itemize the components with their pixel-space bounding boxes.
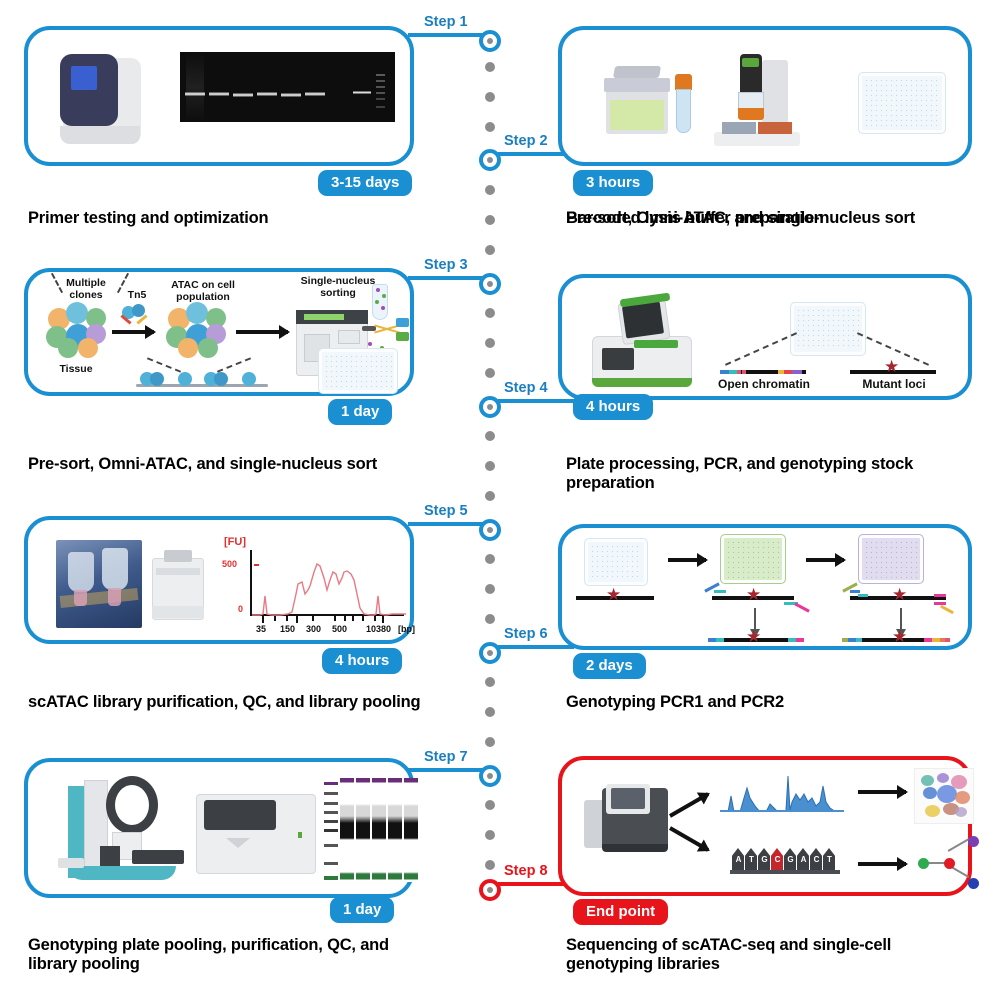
step-label-7: Step 7	[424, 749, 468, 765]
zoom-leader-icon	[147, 357, 181, 372]
panel-step-4[interactable]: Open chromatin ★ Mutant loci	[558, 274, 972, 400]
timeline-dot	[485, 368, 495, 378]
tn5-icon	[242, 372, 256, 386]
heat-block-arm-icon	[613, 66, 661, 78]
cell-icon	[78, 338, 98, 358]
label-multiple-clones: Multiple clones	[50, 278, 122, 301]
tn5-icon	[178, 372, 192, 386]
step-label-3: Step 3	[424, 257, 468, 273]
chart-xtick	[296, 616, 298, 623]
timeline-dot	[485, 707, 495, 717]
plate-384-icon	[584, 538, 648, 586]
thermocycler-lid-window-icon	[622, 302, 664, 339]
atac-signal-track	[722, 772, 842, 812]
heat-block-lid-icon	[604, 78, 670, 92]
step-label-5: Step 5	[424, 503, 468, 519]
timeline-dot	[485, 461, 495, 471]
barcode-seg-icon	[788, 638, 796, 642]
thermocycler-screen-icon	[602, 348, 634, 370]
cell-icon	[198, 338, 218, 358]
umap-plot	[914, 768, 974, 824]
chart-xtick-label: 300	[306, 624, 321, 634]
label-atac-population: ATAC on cell population	[162, 280, 244, 303]
barcode-seg-icon	[708, 638, 716, 642]
duration-badge-step-4: 4 hours	[573, 394, 653, 420]
base-letter-mutant: C	[773, 855, 782, 864]
timeline-track	[482, 18, 498, 978]
genotype-bases: A T G C G A C T	[730, 846, 840, 880]
base-letter: G	[786, 855, 795, 864]
plate-384-icon	[790, 302, 866, 356]
timeline-dot	[485, 614, 495, 624]
robot-keyboard-icon	[58, 858, 84, 868]
base-letter: A	[734, 855, 743, 864]
thermocycler-base-icon	[592, 378, 692, 387]
sequencer-screen-icon	[611, 788, 645, 809]
panel-step-6[interactable]: ★ ★ ★ ★ ★	[558, 524, 972, 650]
step-label-6: Step 6	[504, 626, 548, 642]
tapestation-led-icon	[298, 832, 302, 838]
instrument-screen-icon	[71, 66, 97, 90]
qc-instrument-base-icon	[152, 606, 204, 618]
step-label-4: Step 4	[504, 380, 548, 396]
step-label-8: Step 8	[504, 863, 548, 879]
chart-xtick	[382, 616, 384, 623]
label-open-chromatin: Open chromatin	[714, 378, 814, 391]
robot-base-icon	[68, 866, 176, 880]
qc-instrument-lid-icon	[164, 550, 192, 562]
clone-node-icon	[918, 858, 929, 869]
step-arm-1	[408, 33, 484, 37]
caption-step-1: Primer testing and optimization	[28, 209, 428, 228]
chart-xtick	[362, 616, 364, 621]
droplet-icon	[376, 288, 380, 292]
zoom-leader-icon	[217, 357, 251, 372]
pcr2-primer-icon	[858, 594, 868, 597]
flow-arrow	[668, 558, 706, 562]
timeline-dot	[485, 554, 495, 564]
caption-step-3: Pre-sort, Omni-ATAC, and single-nucleus …	[28, 455, 428, 474]
droplet-icon	[375, 300, 379, 304]
caption-step-7: Genotyping plate pooling, purification, …	[28, 936, 428, 974]
timeline-dot	[485, 92, 495, 102]
chart-ytick-500: 500	[222, 559, 237, 569]
panel-step-2[interactable]	[558, 26, 972, 166]
step-arm-3	[408, 276, 484, 280]
caption-step-4: Plate processing, PCR, and genotyping st…	[566, 455, 966, 493]
clone-phylogeny	[912, 834, 982, 890]
sort-bin-icon	[396, 332, 409, 341]
timeline-dot	[485, 185, 495, 195]
timeline-dot	[485, 431, 495, 441]
timeline-dot	[485, 215, 495, 225]
workflow-diagram: Step 1 Step 2 Step 3 Step 4 Step 5 Step …	[0, 0, 996, 996]
caption-step-5: scATAC library purification, QC, and lib…	[28, 693, 428, 712]
dispenser-display-icon	[742, 58, 759, 67]
barcode-seg-icon	[856, 638, 862, 642]
timeline-dot	[485, 491, 495, 501]
chart-xlabel: [bp]	[398, 624, 415, 634]
pcr2-primer-icon	[850, 590, 860, 593]
duration-badge-step-7: 1 day	[330, 897, 394, 923]
branch-arrow-up	[669, 792, 709, 817]
clone-node-icon	[968, 878, 979, 889]
step-arm-6	[498, 645, 574, 649]
base-letter: T	[747, 855, 756, 864]
caption-step-6: Genotyping PCR1 and PCR2	[566, 693, 966, 712]
tip-box-tips-icon	[738, 108, 764, 120]
duration-badge-step-5: 4 hours	[322, 648, 402, 674]
panel-step-8[interactable]: A T G C G A C T	[558, 756, 972, 896]
tube-cap-icon	[675, 74, 692, 90]
sequencer-base-icon	[602, 844, 668, 852]
caption-step-2: Barcoded lysis buffer preparation	[566, 209, 966, 228]
barcode-seg-icon	[729, 370, 737, 374]
mutation-star-icon: ★	[746, 628, 761, 645]
caption-step-8: Sequencing of scATAC-seq and single-cell…	[566, 936, 966, 974]
heat-block-front-icon	[610, 100, 664, 130]
timeline-dot	[485, 677, 495, 687]
step-arm-4	[498, 399, 574, 403]
step-label-2: Step 2	[504, 133, 548, 149]
flow-arrow	[236, 330, 288, 334]
pcr2-primer-icon	[934, 602, 946, 605]
tn5-icon	[150, 372, 164, 386]
end-point-badge: End point	[573, 899, 668, 925]
tn5-icon	[214, 372, 228, 386]
barcode-seg-icon	[742, 370, 746, 374]
chart-ylabel: [FU]	[224, 536, 246, 548]
mutation-star-icon: ★	[892, 586, 907, 603]
instrument-base-icon	[60, 126, 140, 144]
electropherogram-chart: [FU] 500 0 35 150 300 500 10380	[216, 532, 412, 636]
clone-node-icon	[944, 858, 955, 869]
pcr2-primer-icon	[934, 594, 946, 597]
chart-xtick	[262, 616, 264, 623]
label-tissue: Tissue	[44, 364, 108, 376]
dispenser-base-icon	[714, 132, 800, 146]
sort-gate-icon	[362, 326, 376, 331]
panel-step-3[interactable]: Multiple clones Tissue Tn5 ATAC on cell …	[24, 268, 414, 396]
gel-image	[180, 52, 395, 122]
robot-gripper-icon	[100, 846, 120, 868]
timeline-dot	[485, 737, 495, 747]
panel-step-5[interactable]: [FU] 500 0 35 150 300 500 10380	[24, 516, 414, 644]
timeline-dot	[485, 584, 495, 594]
branch-arrow-down	[669, 826, 709, 851]
step-arm-5	[408, 522, 484, 526]
barcode-seg-icon	[924, 638, 932, 642]
chart-xtick	[274, 616, 276, 621]
barcode-seg-icon	[848, 638, 856, 642]
plate-384-pcr2-icon	[858, 534, 924, 584]
timeline-dot	[485, 308, 495, 318]
timeline-dot	[485, 830, 495, 840]
atac-track-baseline-icon	[720, 810, 844, 812]
base-letter: G	[760, 855, 769, 864]
base-letter: C	[812, 855, 821, 864]
mutation-star-icon: ★	[746, 586, 761, 603]
plate-384-icon	[318, 348, 398, 394]
qc-instrument-slot-icon	[156, 568, 200, 575]
sorter-panel-icon	[338, 330, 360, 344]
chart-xtick-label: 150	[280, 624, 295, 634]
dispenser-plate-b-icon	[758, 122, 792, 134]
base-letter: A	[799, 855, 808, 864]
purification-photo	[56, 540, 142, 628]
step-label-1: Step 1	[424, 14, 468, 30]
mutation-star-icon: ★	[606, 586, 621, 603]
virtual-gel-image	[324, 778, 416, 882]
plate-384-pcr1-icon	[720, 534, 786, 584]
clone-node-icon	[968, 836, 979, 847]
mutation-star-icon: ★	[884, 358, 899, 375]
barcode-seg-icon	[737, 370, 741, 374]
chart-xtick	[344, 616, 346, 621]
flow-arrow	[858, 862, 906, 866]
chart-trace	[252, 550, 406, 616]
sort-bin-icon	[396, 318, 409, 327]
duration-badge-step-2: 3 hours	[573, 170, 653, 196]
cell-icon	[186, 302, 208, 324]
flow-arrow	[806, 558, 844, 562]
label-tn5: Tn5	[120, 290, 154, 302]
barcode-seg-icon	[716, 638, 724, 642]
instrument-front-icon	[60, 54, 118, 126]
barcode-seg-icon	[792, 370, 802, 374]
barcode-seg-icon	[796, 638, 804, 642]
droplet-icon	[381, 306, 385, 310]
chart-xtick	[286, 616, 288, 621]
duration-badge-step-1: 3-15 days	[318, 170, 412, 196]
droplet-icon	[382, 294, 386, 298]
duration-badge-step-6: 2 days	[573, 653, 646, 679]
panel-step-7[interactable]	[24, 758, 414, 898]
duration-badge-step-3: 1 day	[328, 399, 392, 425]
barcode-seg-icon	[720, 370, 729, 374]
step-arm-7	[408, 768, 484, 772]
flow-arrow	[858, 790, 906, 794]
tube-body-icon	[676, 89, 691, 133]
pcr1-primer-icon	[714, 590, 726, 593]
plate-384-icon	[858, 72, 946, 134]
robot-track-icon	[132, 850, 184, 864]
panel-step-1[interactable]	[24, 26, 414, 166]
timeline-dot	[485, 338, 495, 348]
cell-icon	[58, 338, 78, 358]
chart-xtick	[334, 616, 336, 621]
tapestation-window-icon	[204, 800, 276, 830]
chart-xtick	[312, 616, 314, 621]
barcode-seg-icon	[945, 638, 950, 642]
timeline-dot	[485, 62, 495, 72]
timeline-dot	[485, 122, 495, 132]
barcode-seg-icon	[932, 638, 940, 642]
pcr1-primer-icon	[794, 602, 810, 612]
label-mutant-loci: Mutant loci	[848, 378, 940, 391]
chart-xtick-label: 500	[332, 624, 347, 634]
cell-icon	[178, 338, 198, 358]
chart-xtick-label: 10380	[366, 624, 391, 634]
timeline-dot	[485, 800, 495, 810]
chart-xtick	[352, 616, 354, 621]
flow-arrow	[112, 330, 154, 334]
thermocycler-deck-icon	[634, 340, 678, 348]
robot-carousel-icon	[106, 776, 158, 834]
chart-xtick	[374, 616, 376, 621]
zoom-leader-icon	[725, 332, 797, 366]
barcode-seg-icon	[784, 370, 792, 374]
pcr2-primer-icon	[940, 605, 954, 614]
timeline-dot	[485, 245, 495, 255]
dispenser-plate-a-icon	[722, 122, 756, 134]
cell-icon	[66, 302, 88, 324]
sorter-status-icon	[304, 314, 344, 320]
base-letter: T	[825, 855, 834, 864]
droplet-icon	[368, 342, 372, 346]
chart-xtick-label: 35	[256, 624, 266, 634]
timeline-dot	[485, 860, 495, 870]
chart-ytick-0: 0	[238, 604, 243, 614]
mutation-star-icon: ★	[892, 628, 907, 645]
